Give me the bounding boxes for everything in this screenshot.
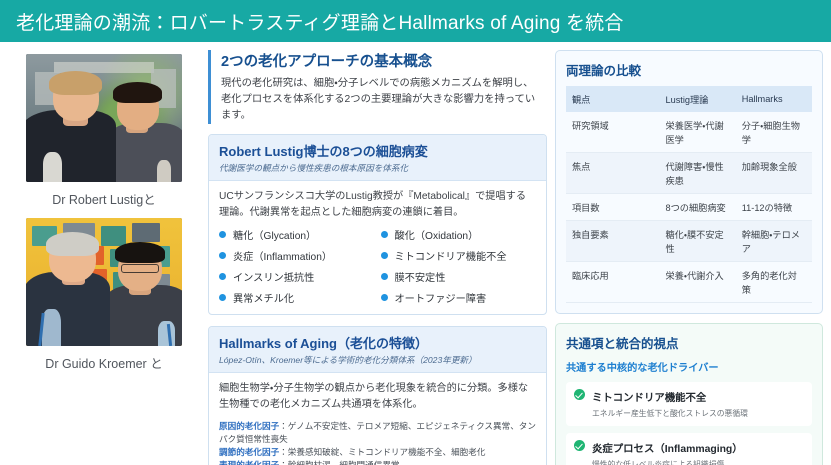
bullet-dot-icon — [219, 252, 226, 259]
lead-text: 現代の老化研究は、細胞・分子レベルでの病態メカニズムを解明し、老化プロセスを体系… — [221, 76, 543, 124]
panel-body: UCサンフランシスコ大学のLustig教授が『Metabolical』で提唱する… — [209, 181, 546, 315]
common-subtitle: 共通する中核的な老化ドライバー — [566, 359, 812, 374]
photo-kroemer — [26, 218, 182, 346]
slide-header: 老化理論の潮流：ロバートラスティグ理論とHallmarks of Aging を… — [0, 0, 831, 42]
panel-desc-hallmarks: 細胞生物学・分子生物学の観点から老化現象を統合的に分類。多様な生物種での老化メカ… — [219, 381, 536, 413]
panel-subtitle-hallmarks: López-Otín、Kroemer等による学術的老化分類体系（2023年更新） — [219, 354, 536, 366]
panel-title-hallmarks: Hallmarks of Aging（老化の特徴） — [219, 333, 536, 352]
column-header-lustig: Lustig理論 — [659, 86, 735, 112]
cell-aspect: 独自要素 — [566, 221, 659, 262]
panel-hallmarks: Hallmarks of Aging（老化の特徴） López-Otín、Kro… — [208, 326, 547, 465]
factor-line: 調節的老化因子：栄養感知破綻、ミトコンドリア機能不全、細胞老化 — [219, 446, 536, 458]
list-item: インスリン抵抗性 — [219, 269, 375, 284]
factor-sep: ： — [279, 421, 288, 431]
column-header-hallmarks: Hallmarks — [736, 86, 812, 112]
list-item-label: 異常メチル化 — [233, 290, 294, 305]
factor-sep: ： — [279, 447, 288, 457]
list-item-label: インスリン抵抗性 — [233, 269, 314, 284]
lead-title: 2つの老化アプローチの基本概念 — [221, 50, 543, 71]
bullet-dot-icon — [219, 273, 226, 280]
factor-line: 原因的老化因子：ゲノム不安定性、テロメア短縮、エピジェネティクス異常、タンパク質… — [219, 420, 536, 445]
list-item-label: 酸化（Oxidation） — [395, 227, 479, 242]
plaque-shape — [132, 223, 160, 242]
cell-hallmarks: 加齢現象全般 — [736, 153, 812, 194]
cell-hallmarks: 幹細胞・テロメア — [736, 221, 812, 262]
lead-block: 2つの老化アプローチの基本概念 現代の老化研究は、細胞・分子レベルでの病態メカニ… — [208, 50, 547, 124]
hair-shape — [46, 232, 99, 256]
factor-label: 調節的老化因子 — [219, 447, 279, 457]
panel-lustig: Robert Lustig博士の8つの細胞病変 代謝医学の観点から慢性疾患の根本… — [208, 134, 547, 316]
cell-lustig: 栄養医学・代謝医学 — [659, 112, 735, 153]
check-circle-icon — [574, 389, 585, 400]
driver-desc: エネルギー産生低下と酸化ストレスの悪循環 — [592, 408, 748, 419]
cell-hallmarks: 分子・細胞生物学 — [736, 112, 812, 153]
cell-aspect: 研究領域 — [566, 112, 659, 153]
panel-header: Robert Lustig博士の8つの細胞病変 代謝医学の観点から慢性疾患の根本… — [209, 135, 546, 181]
panel-desc-lustig: UCサンフランシスコ大学のLustig教授が『Metabolical』で提唱する… — [219, 189, 536, 221]
cell-lustig: 8つの細胞病変 — [659, 194, 735, 221]
table-row: 項目数 8つの細胞病変 11-12の特徴 — [566, 194, 812, 221]
check-circle-icon — [574, 440, 585, 451]
hallmark-factor-list: 原因的老化因子：ゲノム不安定性、テロメア短縮、エピジェネティクス異常、タンパク質… — [219, 420, 536, 465]
driver-title: 炎症プロセス（Inflammaging） — [592, 444, 743, 455]
panel-common-drivers: 共通項と統合的視点 共通する中核的な老化ドライバー ミトコンドリア機能不全 エネ… — [555, 323, 823, 465]
page-title: 老化理論の潮流：ロバートラスティグ理論とHallmarks of Aging を… — [16, 8, 624, 35]
photo-card-lustig: Dr Robert Lustigと — [8, 54, 200, 212]
photo-card-kroemer: Dr Guido Kroemer と — [8, 218, 200, 376]
cell-hallmarks: 11-12の特徴 — [736, 194, 812, 221]
bullet-dot-icon — [381, 231, 388, 238]
table-row: 独自要素 糖化・膜不安定性 幹細胞・テロメア — [566, 221, 812, 262]
photo-caption-kroemer: Dr Guido Kroemer と — [8, 346, 200, 376]
cell-lustig: 糖化・膜不安定性 — [659, 221, 735, 262]
photo-lustig — [26, 54, 182, 182]
list-item-label: 膜不安定性 — [395, 269, 446, 284]
driver-title: ミトコンドリア機能不全 — [592, 393, 706, 404]
panel-header: Hallmarks of Aging（老化の特徴） López-Otín、Kro… — [209, 327, 546, 373]
comparison-title: 両理論の比較 — [566, 60, 812, 79]
bullet-dot-icon — [381, 294, 388, 301]
factor-value: 栄養感知破綻、ミトコンドリア機能不全、細胞老化 — [288, 447, 486, 457]
panel-title-lustig: Robert Lustig博士の8つの細胞病変 — [219, 141, 536, 160]
photo-column: Dr Robert Lustigと — [8, 50, 200, 459]
table-row: 焦点 代謝障害・慢性疾患 加齢現象全般 — [566, 153, 812, 194]
photo-caption-lustig: Dr Robert Lustigと — [8, 182, 200, 212]
list-item: 膜不安定性 — [381, 269, 537, 284]
bullet-dot-icon — [381, 273, 388, 280]
list-item: 異常メチル化 — [219, 290, 375, 305]
panel-comparison: 両理論の比較 観点 Lustig理論 Hallmarks 研究領域 栄養医学・代… — [555, 50, 823, 314]
list-item: ミトコンドリア機能不全 — [381, 248, 537, 263]
column-header-aspect: 観点 — [566, 86, 659, 112]
list-item: 炎症プロセス（Inflammaging） 慢性的な低レベル炎症による組織損傷 — [566, 433, 812, 465]
common-title: 共通項と統合的視点 — [566, 333, 812, 352]
cell-hallmarks: 多角的老化対策 — [736, 262, 812, 303]
bullet-dot-icon — [381, 252, 388, 259]
driver-desc: 慢性的な低レベル炎症による組織損傷 — [592, 459, 743, 465]
cell-aspect: 臨床応用 — [566, 262, 659, 303]
cell-aspect: 項目数 — [566, 194, 659, 221]
list-item: 酸化（Oxidation） — [381, 227, 537, 242]
list-item: 糖化（Glycation） — [219, 227, 375, 242]
cellular-pathology-list: 糖化（Glycation） 酸化（Oxidation） 炎症（Inflammat… — [219, 227, 536, 305]
shirt-shape — [43, 152, 62, 182]
sidebar-column: 両理論の比較 観点 Lustig理論 Hallmarks 研究領域 栄養医学・代… — [555, 50, 823, 459]
hair-shape — [113, 82, 161, 102]
list-item-label: 糖化（Glycation） — [233, 227, 316, 242]
list-item: オートファジー障害 — [381, 290, 537, 305]
hair-shape — [49, 71, 102, 95]
glasses-shape — [121, 264, 158, 273]
driver-text: 炎症プロセス（Inflammaging） 慢性的な低レベル炎症による組織損傷 — [592, 439, 743, 465]
cell-lustig: 代謝障害・慢性疾患 — [659, 153, 735, 194]
main-content-column: 2つの老化アプローチの基本概念 現代の老化研究は、細胞・分子レベルでの病態メカニ… — [208, 50, 547, 459]
cell-lustig: 栄養・代謝介入 — [659, 262, 735, 303]
factor-label: 原因的老化因子 — [219, 421, 279, 431]
table-header-row: 観点 Lustig理論 Hallmarks — [566, 86, 812, 112]
table-row: 研究領域 栄養医学・代謝医学 分子・細胞生物学 — [566, 112, 812, 153]
hair-shape — [115, 242, 165, 262]
list-item: ミトコンドリア機能不全 エネルギー産生低下と酸化ストレスの悪循環 — [566, 382, 812, 426]
shirt-shape — [157, 160, 171, 182]
list-item: 炎症（Inflammation） — [219, 248, 375, 263]
factor-sep: ： — [279, 460, 288, 465]
comparison-table: 観点 Lustig理論 Hallmarks 研究領域 栄養医学・代謝医学 分子・… — [566, 86, 812, 303]
slide-root: 老化理論の潮流：ロバートラスティグ理論とHallmarks of Aging を… — [0, 0, 831, 465]
plaque-shape — [101, 226, 126, 246]
factor-value: 幹細胞枯渇、細胞間通信異常 — [288, 460, 400, 465]
cell-aspect: 焦点 — [566, 153, 659, 194]
bullet-dot-icon — [219, 231, 226, 238]
list-item-label: オートファジー障害 — [395, 290, 487, 305]
bullet-dot-icon — [219, 294, 226, 301]
list-item-label: 炎症（Inflammation） — [233, 248, 332, 263]
driver-text: ミトコンドリア機能不全 エネルギー産生低下と酸化ストレスの悪循環 — [592, 388, 748, 419]
factor-line: 表現的老化因子：幹細胞枯渇、細胞間通信異常 — [219, 459, 536, 465]
table-row: 臨床応用 栄養・代謝介入 多角的老化対策 — [566, 262, 812, 303]
panel-body: 細胞生物学・分子生物学の観点から老化現象を統合的に分類。多様な生物種での老化メカ… — [209, 373, 546, 465]
panel-subtitle-lustig: 代謝医学の観点から慢性疾患の根本原因を体系化 — [219, 162, 536, 174]
factor-label: 表現的老化因子 — [219, 460, 279, 465]
slide-body: Dr Robert Lustigと — [0, 42, 831, 465]
list-item-label: ミトコンドリア機能不全 — [395, 248, 507, 263]
